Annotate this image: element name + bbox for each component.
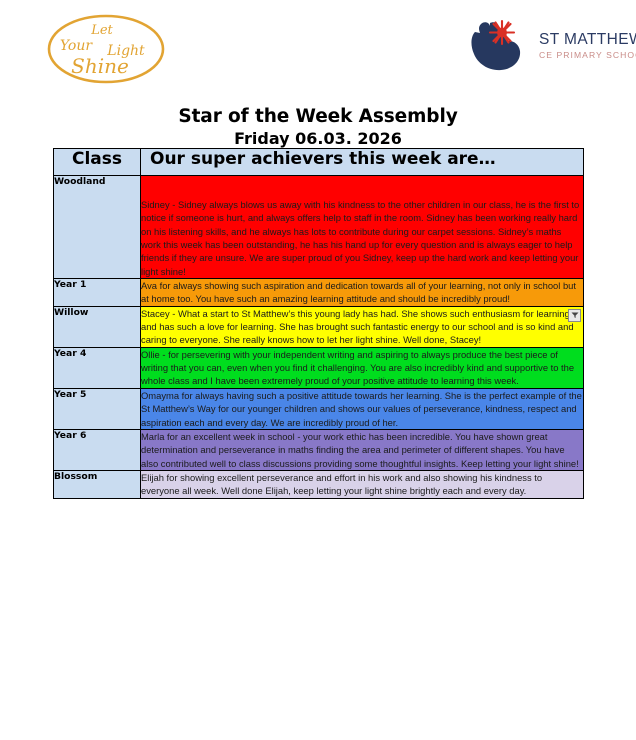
achievement-text: Ollie - for persevering with your indepe… [141, 349, 574, 387]
header-band: Let Your Light Shine ST MATTHEW'S CE [0, 0, 636, 95]
title-block: Star of the Week Assembly Friday 06.03. … [0, 105, 636, 150]
achievement-text: Sidney - Sidney always blows us away wit… [141, 199, 579, 277]
svg-text:Your: Your [60, 38, 93, 54]
page-subtitle-date: Friday 06.03. 2026 [0, 129, 636, 150]
achievement-text: Marla for an excellent week in school - … [141, 431, 579, 469]
table-row: Year 4Ollie - for persevering with your … [54, 347, 584, 388]
achievement-text-cell: Sidney - Sidney always blows us away wit… [141, 176, 584, 279]
achievement-text-cell: Marla for an excellent week in school - … [141, 429, 584, 470]
school-subtitle: CE PRIMARY SCHOOL [539, 51, 636, 60]
filter-dropdown-icon[interactable] [568, 309, 581, 322]
class-name-cell: Year 4 [54, 347, 141, 388]
svg-text:Shine: Shine [71, 54, 129, 78]
table-row: WillowStacey - What a start to St Matthe… [54, 306, 584, 347]
class-name-cell: Year 5 [54, 388, 141, 429]
achievement-text: Elijah for showing excellent perseveranc… [141, 472, 542, 496]
hand-and-star-icon [463, 18, 535, 76]
achievement-text-cell: Stacey - What a start to St Matthew’s th… [141, 306, 584, 347]
table-header-row: Class Our super achievers this week are… [54, 149, 584, 176]
table-row: WoodlandSidney - Sidney always blows us … [54, 176, 584, 279]
table-row: BlossomElijah for showing excellent pers… [54, 470, 584, 498]
table-row: Year 1Ava for always showing such aspira… [54, 279, 584, 307]
page-title: Star of the Week Assembly [0, 105, 636, 128]
achievement-text-cell: Ollie - for persevering with your indepe… [141, 347, 584, 388]
svg-text:Let: Let [90, 23, 113, 38]
school-name: ST MATTHEW'S [539, 32, 636, 49]
achievement-text-cell: Ava for always showing such aspiration a… [141, 279, 584, 307]
star-of-the-week-table: Class Our super achievers this week are…… [53, 148, 584, 499]
achievement-text: Stacey - What a start to St Matthew’s th… [141, 308, 574, 346]
table-row: Year 6Marla for an excellent week in sch… [54, 429, 584, 470]
st-matthews-logo: ST MATTHEW'S CE PRIMARY SCHOOL [463, 18, 631, 80]
class-name-cell: Willow [54, 306, 141, 347]
class-name-cell: Year 1 [54, 279, 141, 307]
column-header-achievers: Our super achievers this week are… [141, 149, 584, 176]
column-header-class: Class [54, 149, 141, 176]
table-row: Year 5Omayma for always having such a po… [54, 388, 584, 429]
achievement-text-cell: Omayma for always having such a positive… [141, 388, 584, 429]
class-name-cell: Blossom [54, 470, 141, 498]
achievement-text: Omayma for always having such a positive… [141, 390, 582, 428]
class-name-cell: Woodland [54, 176, 141, 279]
achievement-text: Ava for always showing such aspiration a… [141, 280, 576, 304]
star-of-the-week-table-wrapper: Class Our super achievers this week are…… [53, 148, 583, 499]
class-name-cell: Year 6 [54, 429, 141, 470]
achievement-text-cell: Elijah for showing excellent perseveranc… [141, 470, 584, 498]
let-your-light-shine-logo: Let Your Light Shine [44, 12, 168, 86]
